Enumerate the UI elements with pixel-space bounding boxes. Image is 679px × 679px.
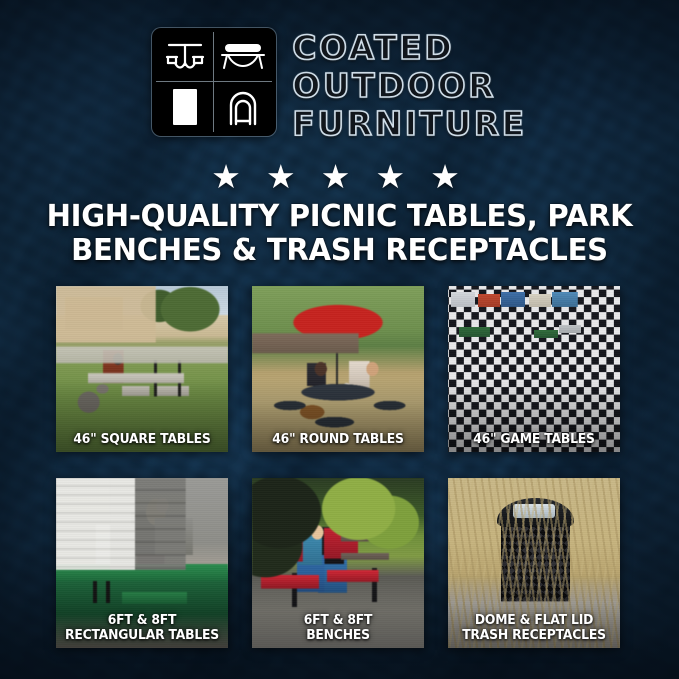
brand-line-coated: COATED <box>292 30 526 66</box>
star-rating: ★ ★ ★ ★ ★ <box>0 160 679 194</box>
product-caption-trash-receptacles: DOME & FLAT LID TRASH RECEPTACLES <box>452 613 615 643</box>
product-caption-round-tables: 46" ROUND TABLES <box>256 432 419 447</box>
product-photo-round-tables <box>252 286 424 452</box>
bench-icon <box>214 32 272 82</box>
trash-can-body <box>501 522 570 621</box>
product-grid: 46" SQUARE TABLES 46" ROUND TABLES <box>56 286 623 648</box>
headline: HIGH-QUALITY PICNIC TABLES, PARK BENCHES… <box>10 200 669 268</box>
brand-logo: COATED OUTDOOR FURNITURE <box>0 28 679 142</box>
caption-line-1: 46" GAME TABLES <box>455 432 613 447</box>
brand-line-outdoor: OUTDOOR <box>292 68 526 104</box>
caption-line-1: 6FT & 8FT <box>259 613 417 628</box>
product-tile-benches[interactable]: 6FT & 8FT BENCHES <box>252 478 424 648</box>
brand-wordmark: COATED OUTDOOR FURNITURE <box>292 30 526 142</box>
product-caption-game-tables: 46" GAME TABLES <box>452 432 615 447</box>
trash-receptacle-icon <box>156 82 214 132</box>
product-tile-rectangular-tables[interactable]: 6FT & 8FT RECTANGULAR TABLES <box>56 478 228 648</box>
caption-line-1: 46" SQUARE TABLES <box>63 432 221 447</box>
product-caption-benches: 6FT & 8FT BENCHES <box>256 613 419 643</box>
product-caption-rectangular-tables: 6FT & 8FT RECTANGULAR TABLES <box>60 613 223 643</box>
product-photo-game-tables <box>448 286 620 452</box>
caption-line-1: 6FT & 8FT <box>63 613 221 628</box>
brand-line-furniture: FURNITURE <box>292 106 526 142</box>
product-tile-round-tables[interactable]: 46" ROUND TABLES <box>252 286 424 452</box>
caption-line-1: 46" ROUND TABLES <box>259 432 417 447</box>
bike-rack-icon <box>214 82 272 132</box>
trash-can-dome-lid <box>497 498 574 527</box>
logo-mark-icon <box>152 28 276 136</box>
headline-line-1: HIGH-QUALITY PICNIC TABLES, PARK <box>10 200 669 234</box>
product-tile-game-tables[interactable]: 46" GAME TABLES <box>448 286 620 452</box>
promotional-banner: COATED OUTDOOR FURNITURE ★ ★ ★ ★ ★ HIGH-… <box>0 0 679 679</box>
product-caption-square-tables: 46" SQUARE TABLES <box>60 432 223 447</box>
photo-figure-boy <box>560 326 617 429</box>
caption-line-2: BENCHES <box>259 628 417 643</box>
headline-line-2: BENCHES & TRASH RECEPTACLES <box>10 234 669 268</box>
caption-line-2: RECTANGULAR TABLES <box>63 628 221 643</box>
product-tile-trash-receptacles[interactable]: DOME & FLAT LID TRASH RECEPTACLES <box>448 478 620 648</box>
product-photo-square-tables <box>56 286 228 452</box>
product-tile-square-tables[interactable]: 46" SQUARE TABLES <box>56 286 228 452</box>
caption-line-2: TRASH RECEPTACLES <box>455 628 613 643</box>
trash-can-opening <box>513 504 554 518</box>
caption-line-1: DOME & FLAT LID <box>455 613 613 628</box>
picnic-table-icon <box>156 32 214 82</box>
